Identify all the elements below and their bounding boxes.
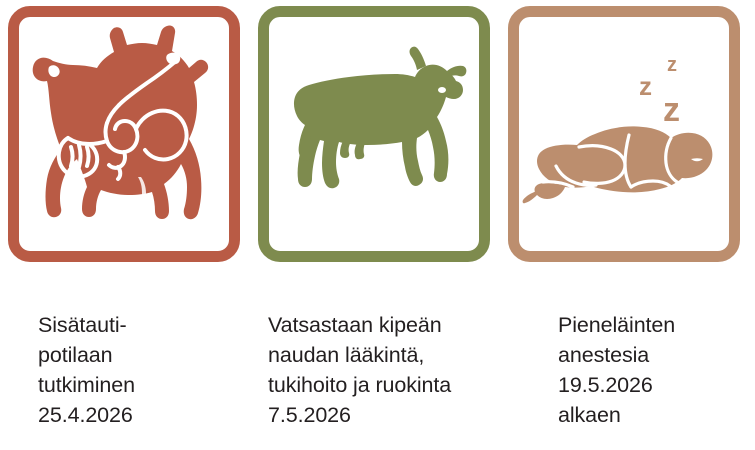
- course-card-pienelainten-anestesia[interactable]: z z z: [508, 6, 740, 262]
- course-cards-page: z z z: [0, 0, 755, 450]
- card-row: z z z: [0, 0, 755, 268]
- course-card-sisatautipotilaan-tutkiminen[interactable]: [8, 6, 240, 262]
- caption-row: Sisätauti- potilaan tutkiminen 25.4.2026…: [0, 268, 755, 450]
- sleep-z-medium: z: [639, 71, 652, 101]
- sleeping-dog-icon: z z z: [519, 17, 729, 251]
- caption-sisatautipotilaan-tutkiminen: Sisätauti- potilaan tutkiminen 25.4.2026: [38, 310, 254, 430]
- sleep-z-small: z: [667, 54, 677, 76]
- cow-icon: [269, 17, 479, 251]
- caption-pienelainten-anestesia: Pieneläinten anestesia 19.5.2026 alkaen: [558, 310, 754, 430]
- caption-vatsastaan-kipean-naudan-laakinta: Vatsastaan kipeän naudan lääkintä, tukih…: [268, 310, 498, 430]
- course-card-vatsastaan-kipean-naudan-laakinta[interactable]: [258, 6, 490, 262]
- sleep-z-large: z: [663, 91, 680, 129]
- cat-internal-organs-icon: [19, 17, 229, 251]
